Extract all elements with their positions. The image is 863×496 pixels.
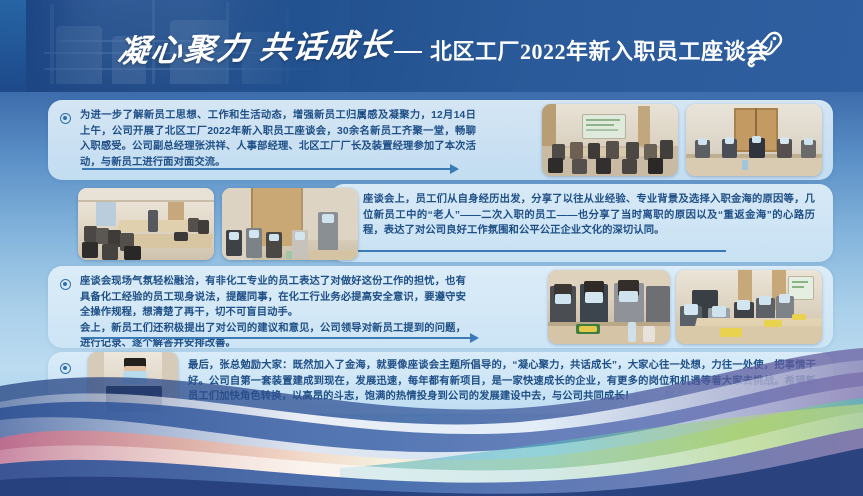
section-3-text: 座谈会现场气氛轻松融洽，有非化工专业的员工表达了对做好这份工作的担忧，也有具备化… xyxy=(80,274,466,352)
header-left-accent xyxy=(0,0,26,92)
circle-dot-icon xyxy=(60,113,71,124)
photo-leaders-at-table xyxy=(686,104,822,176)
photo-three-employees-closeup xyxy=(548,270,670,344)
arrow-right-line-3 xyxy=(82,337,472,339)
microphone-icon xyxy=(744,27,790,73)
page-title: 凝心聚力 共话成长 xyxy=(116,19,395,71)
section-2-text: 座谈会上，员工们从自身经历出发，分享了以往从业经验、专业背景及选择入职金海的原因… xyxy=(363,192,815,239)
circle-dot-icon xyxy=(60,279,71,290)
poster-header: 凝心聚力 共话成长 北区工厂2022年新入职员工座谈会 xyxy=(0,0,863,92)
arrow-right-head-3 xyxy=(470,333,479,343)
arrow-left-line-2 xyxy=(348,250,726,252)
arrow-right-line-1 xyxy=(82,168,452,170)
flowing-ribbon-decoration xyxy=(0,346,863,496)
section-1-text: 为进一步了解新员工思想、工作和生活动态，增强新员工归属感及凝聚力，12月14日上… xyxy=(80,108,476,170)
title-divider-dash xyxy=(394,51,422,53)
photo-row-of-seated-employees xyxy=(676,270,822,344)
arrow-right-head-1 xyxy=(450,164,459,174)
poster-canvas: 凝心聚力 共话成长 北区工厂2022年新入职员工座谈会 为进一步了解新员工思想、… xyxy=(0,0,863,496)
photo-meeting-room-presentation xyxy=(542,104,678,176)
photo-long-conference-table xyxy=(78,188,214,260)
photo-employees-standing-speaking xyxy=(222,188,358,260)
page-subtitle: 北区工厂2022年新入职员工座谈会 xyxy=(430,34,769,66)
